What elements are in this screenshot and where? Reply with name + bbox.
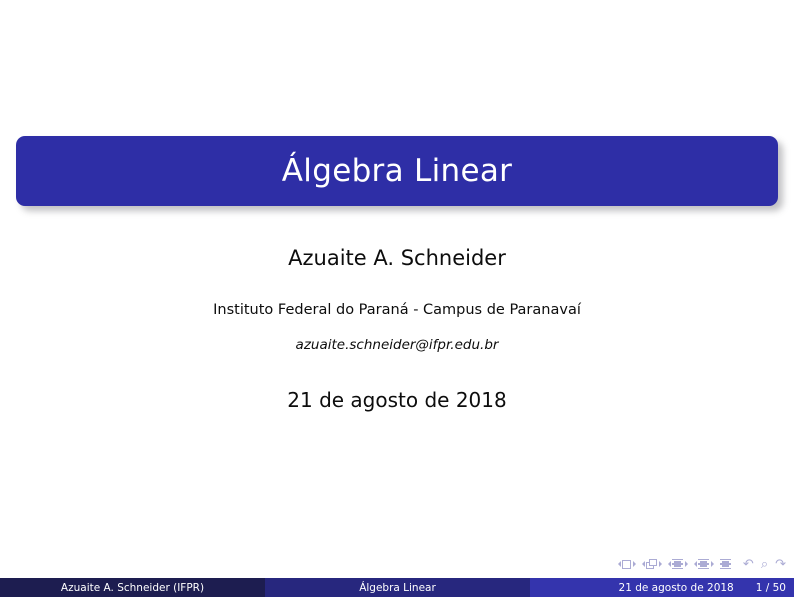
next-slide-icon[interactable] bbox=[633, 561, 636, 567]
presentation-date: 21 de agosto de 2018 bbox=[0, 388, 794, 412]
beamer-navigation-bar[interactable]: ↶ ⌕ ↷ bbox=[618, 554, 786, 574]
prev-section-icon[interactable] bbox=[694, 561, 697, 567]
author-email: azuaite.schneider@ifpr.edu.br bbox=[0, 337, 794, 353]
next-subsection-icon[interactable] bbox=[685, 561, 688, 567]
footer-date-page-segment: 21 de agosto de 2018 1 / 50 bbox=[530, 578, 794, 597]
slide-nav-group[interactable] bbox=[618, 560, 636, 569]
footer-page-number: 1 / 50 bbox=[756, 582, 786, 594]
footer-title-text: Álgebra Linear bbox=[359, 582, 436, 594]
page-title: Álgebra Linear bbox=[282, 156, 512, 187]
frame-icon[interactable] bbox=[646, 559, 657, 569]
document-nav-group[interactable] bbox=[720, 559, 731, 569]
prev-slide-icon[interactable] bbox=[618, 561, 621, 567]
prev-subsection-icon[interactable] bbox=[668, 561, 671, 567]
footer-bar: Azuaite A. Schneider (IFPR) Álgebra Line… bbox=[0, 578, 794, 597]
title-block: Álgebra Linear bbox=[16, 136, 778, 206]
subsection-nav-group[interactable] bbox=[668, 559, 688, 569]
section-lines-icon[interactable] bbox=[698, 559, 709, 569]
title-block-wrapper: Álgebra Linear bbox=[16, 136, 778, 206]
footer-author-segment: Azuaite A. Schneider (IFPR) bbox=[0, 578, 265, 597]
footer-title-segment: Álgebra Linear bbox=[265, 578, 530, 597]
document-lines-icon[interactable] bbox=[720, 559, 731, 569]
search-icon[interactable]: ⌕ bbox=[761, 558, 768, 571]
forward-arrow-icon[interactable]: ↷ bbox=[775, 558, 786, 571]
next-section-icon[interactable] bbox=[711, 561, 714, 567]
frame-nav-group[interactable] bbox=[642, 559, 662, 569]
footer-author-text: Azuaite A. Schneider (IFPR) bbox=[61, 582, 204, 594]
prev-frame-icon[interactable] bbox=[642, 561, 645, 567]
slide-box-icon[interactable] bbox=[622, 560, 631, 569]
author-name: Azuaite A. Schneider bbox=[0, 246, 794, 270]
presentation-slide: Álgebra Linear Azuaite A. Schneider Inst… bbox=[0, 0, 794, 597]
subsection-lines-icon[interactable] bbox=[672, 559, 683, 569]
section-nav-group[interactable] bbox=[694, 559, 714, 569]
footer-date-text: 21 de agosto de 2018 bbox=[619, 582, 734, 594]
institute-name: Instituto Federal do Paraná - Campus de … bbox=[0, 302, 794, 318]
next-frame-icon[interactable] bbox=[659, 561, 662, 567]
back-arrow-icon[interactable]: ↶ bbox=[743, 558, 754, 571]
